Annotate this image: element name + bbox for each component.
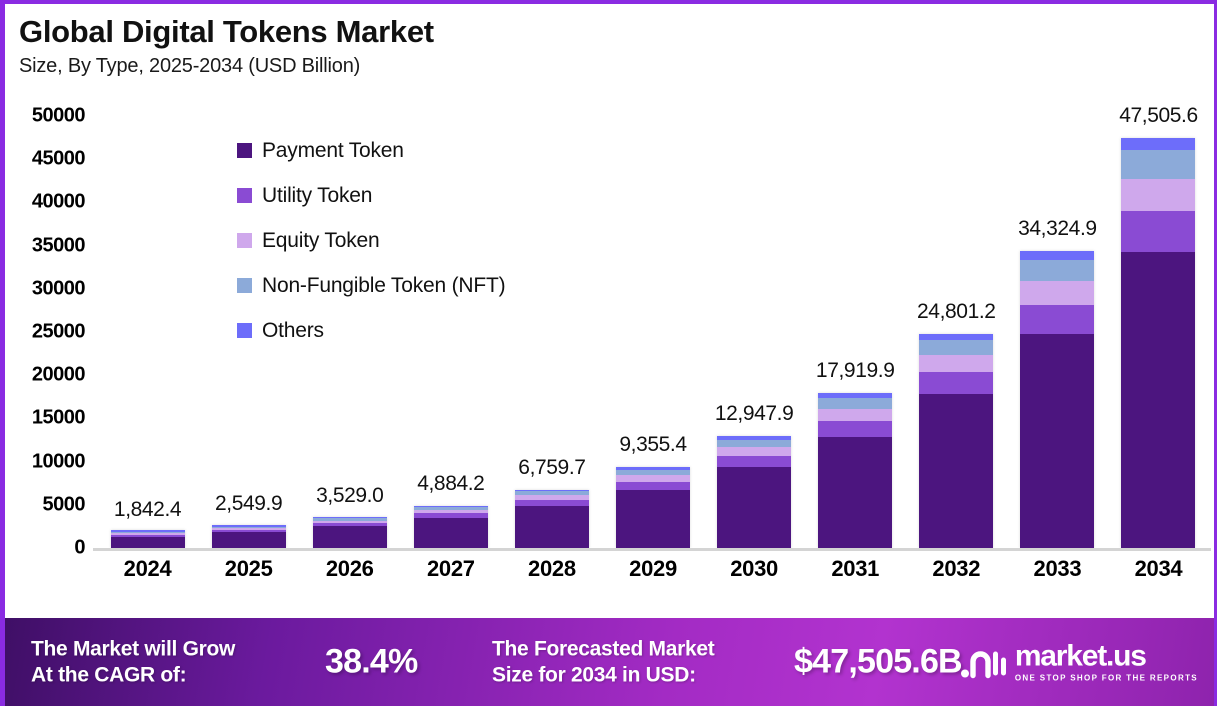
page-title: Global Digital Tokens Market bbox=[19, 14, 434, 50]
bar-segment-payment-token bbox=[515, 506, 589, 548]
bar-stack[interactable] bbox=[616, 467, 690, 548]
y-axis-tick: 20000 bbox=[32, 364, 85, 387]
y-axis-tick: 5000 bbox=[43, 493, 86, 516]
bar-segment-utility-token bbox=[1020, 305, 1094, 335]
bar-stack[interactable] bbox=[515, 490, 589, 548]
bar-stack[interactable] bbox=[919, 334, 993, 548]
legend-item-non-fungible-token-nft[interactable]: Non-Fungible Token (NFT) bbox=[237, 263, 505, 308]
legend-swatch-icon bbox=[237, 278, 252, 293]
x-axis-tick-2027: 2027 bbox=[400, 556, 501, 596]
y-axis-tick: 10000 bbox=[32, 450, 85, 473]
bar-value-label: 34,324.9 bbox=[1018, 217, 1097, 241]
bar-value-label: 9,355.4 bbox=[619, 433, 686, 457]
legend-label: Utility Token bbox=[262, 184, 372, 208]
legend-item-utility-token[interactable]: Utility Token bbox=[237, 173, 505, 218]
bar-group-2030[interactable]: 12,947.9 bbox=[704, 116, 805, 548]
x-axis-tick-2026: 2026 bbox=[299, 556, 400, 596]
forecast-caption-line1: The Forecasted Market bbox=[492, 636, 714, 662]
bar-segment-others bbox=[1121, 138, 1195, 150]
bar-segment-equity-token bbox=[717, 447, 791, 456]
bar-group-2031[interactable]: 17,919.9 bbox=[805, 116, 906, 548]
bar-value-label: 3,529.0 bbox=[316, 484, 383, 508]
bar-value-label: 12,947.9 bbox=[715, 402, 794, 426]
bar-segment-payment-token bbox=[313, 526, 387, 548]
bar-group-2029[interactable]: 9,355.4 bbox=[602, 116, 703, 548]
bar-value-label: 6,759.7 bbox=[518, 456, 585, 480]
bar-segment-payment-token bbox=[717, 467, 791, 548]
bar-segment-payment-token bbox=[414, 518, 488, 548]
bar-group-2028[interactable]: 6,759.7 bbox=[501, 116, 602, 548]
logo-tagline: ONE STOP SHOP FOR THE REPORTS bbox=[1015, 675, 1198, 683]
bar-group-2034[interactable]: 47,505.6 bbox=[1108, 116, 1209, 548]
x-axis-tick-2032: 2032 bbox=[906, 556, 1007, 596]
bar-segment-utility-token bbox=[818, 421, 892, 436]
bar-stack[interactable] bbox=[414, 506, 488, 548]
bar-stack[interactable] bbox=[1020, 251, 1094, 548]
bar-group-2032[interactable]: 24,801.2 bbox=[906, 116, 1007, 548]
bar-segment-equity-token bbox=[919, 355, 993, 372]
y-axis-tick: 15000 bbox=[32, 407, 85, 430]
x-axis: 2024202520262027202820292030203120322033… bbox=[97, 556, 1209, 596]
x-axis-tick-2033: 2033 bbox=[1007, 556, 1108, 596]
legend-swatch-icon bbox=[237, 143, 252, 158]
bar-value-label: 2,549.9 bbox=[215, 492, 282, 516]
bar-stack[interactable] bbox=[818, 393, 892, 548]
y-axis-tick: 30000 bbox=[32, 277, 85, 300]
summary-banner: The Market will Grow At the CAGR of: 38.… bbox=[5, 618, 1214, 706]
cagr-caption: The Market will Grow At the CAGR of: bbox=[31, 636, 235, 687]
bar-segment-payment-token bbox=[919, 394, 993, 548]
y-axis-tick: 35000 bbox=[32, 234, 85, 257]
forecast-caption-line2: Size for 2034 in USD: bbox=[492, 662, 714, 688]
bar-segment-payment-token bbox=[616, 490, 690, 548]
cagr-caption-line2: At the CAGR of: bbox=[31, 662, 235, 688]
bar-segment-payment-token bbox=[111, 537, 185, 548]
bar-segment-equity-token bbox=[1020, 281, 1094, 305]
x-axis-tick-2029: 2029 bbox=[602, 556, 703, 596]
legend-item-equity-token[interactable]: Equity Token bbox=[237, 218, 505, 263]
bar-segment-non-fungible-token-nft bbox=[818, 398, 892, 409]
y-axis-tick: 50000 bbox=[32, 105, 85, 128]
bar-stack[interactable] bbox=[313, 517, 387, 548]
chart-page: Global Digital Tokens Market Size, By Ty… bbox=[0, 0, 1217, 706]
plot-area: 5000045000400003500030000250002000015000… bbox=[5, 116, 1214, 608]
bar-stack[interactable] bbox=[111, 530, 185, 548]
bar-segment-equity-token bbox=[818, 409, 892, 421]
y-axis-tick: 40000 bbox=[32, 191, 85, 214]
bar-value-label: 24,801.2 bbox=[917, 300, 996, 324]
x-axis-tick-2028: 2028 bbox=[501, 556, 602, 596]
bar-value-label: 4,884.2 bbox=[417, 472, 484, 496]
legend-item-others[interactable]: Others bbox=[237, 308, 505, 353]
legend-label: Others bbox=[262, 319, 324, 343]
bar-stack[interactable] bbox=[717, 436, 791, 548]
legend-label: Non-Fungible Token (NFT) bbox=[262, 274, 505, 298]
market-us-logo[interactable]: market.us ONE STOP SHOP FOR THE REPORTS bbox=[960, 642, 1198, 683]
bar-segment-payment-token bbox=[1121, 252, 1195, 548]
legend-label: Equity Token bbox=[262, 229, 379, 253]
bar-segment-non-fungible-token-nft bbox=[919, 340, 993, 355]
bar-segment-utility-token bbox=[1121, 211, 1195, 252]
logo-mark-icon bbox=[960, 644, 1006, 680]
legend-item-payment-token[interactable]: Payment Token bbox=[237, 128, 505, 173]
bar-stack[interactable] bbox=[1121, 138, 1195, 548]
x-axis-tick-2025: 2025 bbox=[198, 556, 299, 596]
legend-swatch-icon bbox=[237, 188, 252, 203]
bar-stack[interactable] bbox=[212, 525, 286, 548]
logo-text: market.us ONE STOP SHOP FOR THE REPORTS bbox=[1015, 642, 1198, 683]
bar-value-label: 17,919.9 bbox=[816, 359, 895, 383]
bar-value-label: 47,505.6 bbox=[1119, 104, 1198, 128]
x-axis-baseline bbox=[93, 548, 1211, 551]
legend-swatch-icon bbox=[237, 233, 252, 248]
cagr-value: 38.4% bbox=[325, 643, 417, 682]
bar-segment-payment-token bbox=[1020, 334, 1094, 548]
bar-segment-utility-token bbox=[616, 482, 690, 490]
y-axis-tick: 0 bbox=[74, 537, 85, 560]
bar-value-label: 1,842.4 bbox=[114, 498, 181, 522]
bar-group-2024[interactable]: 1,842.4 bbox=[97, 116, 198, 548]
bar-segment-equity-token bbox=[1121, 179, 1195, 212]
bar-segment-non-fungible-token-nft bbox=[1020, 260, 1094, 281]
bar-group-2033[interactable]: 34,324.9 bbox=[1007, 116, 1108, 548]
chart-legend: Payment TokenUtility TokenEquity TokenNo… bbox=[237, 128, 505, 353]
y-axis: 5000045000400003500030000250002000015000… bbox=[5, 116, 91, 548]
chart-header: Global Digital Tokens Market Size, By Ty… bbox=[19, 14, 434, 78]
bar-segment-non-fungible-token-nft bbox=[717, 440, 791, 448]
x-axis-tick-2030: 2030 bbox=[704, 556, 805, 596]
cagr-caption-line1: The Market will Grow bbox=[31, 636, 235, 662]
x-axis-tick-2024: 2024 bbox=[97, 556, 198, 596]
bar-segment-others bbox=[1020, 251, 1094, 260]
forecast-value: $47,505.6B bbox=[794, 643, 962, 682]
y-axis-tick: 45000 bbox=[32, 148, 85, 171]
bar-segment-utility-token bbox=[717, 456, 791, 467]
chart-subtitle: Size, By Type, 2025-2034 (USD Billion) bbox=[19, 55, 434, 78]
x-axis-tick-2031: 2031 bbox=[805, 556, 906, 596]
y-axis-tick: 25000 bbox=[32, 321, 85, 344]
forecast-caption: The Forecasted Market Size for 2034 in U… bbox=[492, 636, 714, 687]
legend-label: Payment Token bbox=[262, 139, 404, 163]
bar-segment-non-fungible-token-nft bbox=[1121, 150, 1195, 179]
bar-segment-payment-token bbox=[818, 437, 892, 548]
legend-swatch-icon bbox=[237, 323, 252, 338]
x-axis-tick-2034: 2034 bbox=[1108, 556, 1209, 596]
logo-name: market.us bbox=[1015, 642, 1198, 672]
bar-segment-utility-token bbox=[919, 372, 993, 393]
bar-segment-payment-token bbox=[212, 532, 286, 548]
